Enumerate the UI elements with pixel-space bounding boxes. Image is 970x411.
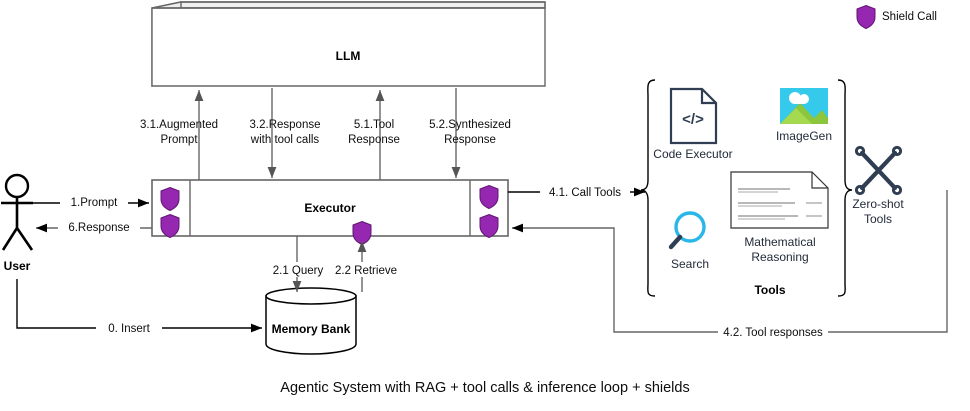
edge-augmented-prompt-label-line2: Prompt xyxy=(160,134,198,146)
edge-retrieve-label: 2.2 Retrieve xyxy=(335,265,397,277)
llm-top-face xyxy=(152,2,545,8)
edge-retrieve: 2.2 Retrieve xyxy=(333,241,401,292)
tool-code-executor-label: Code Executor xyxy=(653,147,732,161)
edge-prompt-label: 1.Prompt xyxy=(71,197,118,209)
tools-group: Tools </> Code Executor ImageGen xyxy=(641,80,904,297)
user-label: User xyxy=(4,259,31,273)
legend-shield-label: Shield Call xyxy=(882,11,937,23)
tool-code-executor[interactable]: </> Code Executor xyxy=(653,89,732,161)
memory-bank-node[interactable]: Memory Bank xyxy=(266,288,356,354)
edge-response-label: 6.Response xyxy=(68,222,129,234)
tool-imagegen-label: ImageGen xyxy=(776,129,832,143)
user-head xyxy=(6,175,28,197)
edge-augmented-prompt: 3.1.Augmented Prompt xyxy=(140,90,218,180)
edge-synthesized-label-line2: Response xyxy=(444,134,496,146)
edge-call-tools: 4.1. Call Tools xyxy=(508,183,645,199)
edge-tool-response-label-line2: Response xyxy=(348,134,400,146)
llm-label: LLM xyxy=(336,49,361,63)
magnifier-icon-handle xyxy=(671,237,680,247)
edge-query-label: 2.1 Query xyxy=(273,265,324,277)
tool-imagegen[interactable]: ImageGen xyxy=(776,88,832,143)
llm-node[interactable]: LLM xyxy=(152,2,545,86)
tool-zero-shot-label-line2: Tools xyxy=(864,212,892,226)
tool-math-label-line1: Mathematical xyxy=(744,235,815,249)
edge-response: 6.Response xyxy=(36,219,152,235)
executor-label: Executor xyxy=(304,201,356,215)
tools-right-brace xyxy=(838,80,852,296)
tools-group-label: Tools xyxy=(754,283,785,297)
edge-insert-label: 0. Insert xyxy=(108,323,150,335)
edge-synthesized-response: 5.2.Synthesized Response xyxy=(429,88,511,178)
tool-math-label-line2: Reasoning xyxy=(751,250,808,264)
executor-node[interactable]: Executor xyxy=(152,180,508,245)
edge-tool-response: 5.1.Tool Response xyxy=(348,90,400,180)
edge-insert: 0. Insert xyxy=(17,279,262,336)
edge-response-with-tool-calls: 3.2.Response with tool calls xyxy=(250,88,321,178)
tool-zero-shot-label-line1: Zero-shot xyxy=(852,197,904,211)
edge-synthesized-label-line1: 5.2.Synthesized xyxy=(429,119,511,131)
diagram-caption: Agentic System with RAG + tool calls & i… xyxy=(280,380,689,396)
llm-front-face xyxy=(152,8,545,86)
user-body xyxy=(1,197,33,250)
edge-augmented-prompt-label-line1: 3.1.Augmented xyxy=(140,119,218,131)
edge-response-tool-calls-label-line1: 3.2.Response xyxy=(250,119,321,131)
tool-math-reasoning[interactable]: Mathematical Reasoning xyxy=(731,172,828,264)
tool-zero-shot[interactable]: Zero-shot Tools xyxy=(852,147,904,226)
memory-bank-label: Memory Bank xyxy=(272,322,351,336)
edge-query: 2.1 Query xyxy=(268,236,328,292)
edge-prompt: 1.Prompt xyxy=(33,194,149,210)
code-glyph: </> xyxy=(682,111,704,128)
edge-response-tool-calls-label-line2: with tool calls xyxy=(250,134,320,146)
tool-search[interactable]: Search xyxy=(671,213,709,271)
edge-tool-responses-label: 4.2. Tool responses xyxy=(723,327,823,339)
edge-call-tools-label: 4.1. Call Tools xyxy=(549,187,621,199)
user-node[interactable]: User xyxy=(1,175,33,273)
edge-tool-response-label-line1: 5.1.Tool xyxy=(354,119,394,131)
tools-left-brace xyxy=(641,80,655,296)
agentic-system-diagram: LLM 3.1.Augmented Prompt 3.2.Response wi… xyxy=(0,0,970,411)
formula-document-icon xyxy=(731,172,828,228)
crossed-wrenches-icon xyxy=(856,147,900,193)
tool-search-label: Search xyxy=(671,257,709,271)
memory-bank-top xyxy=(266,288,356,304)
legend-shield-call: Shield Call xyxy=(857,6,937,29)
